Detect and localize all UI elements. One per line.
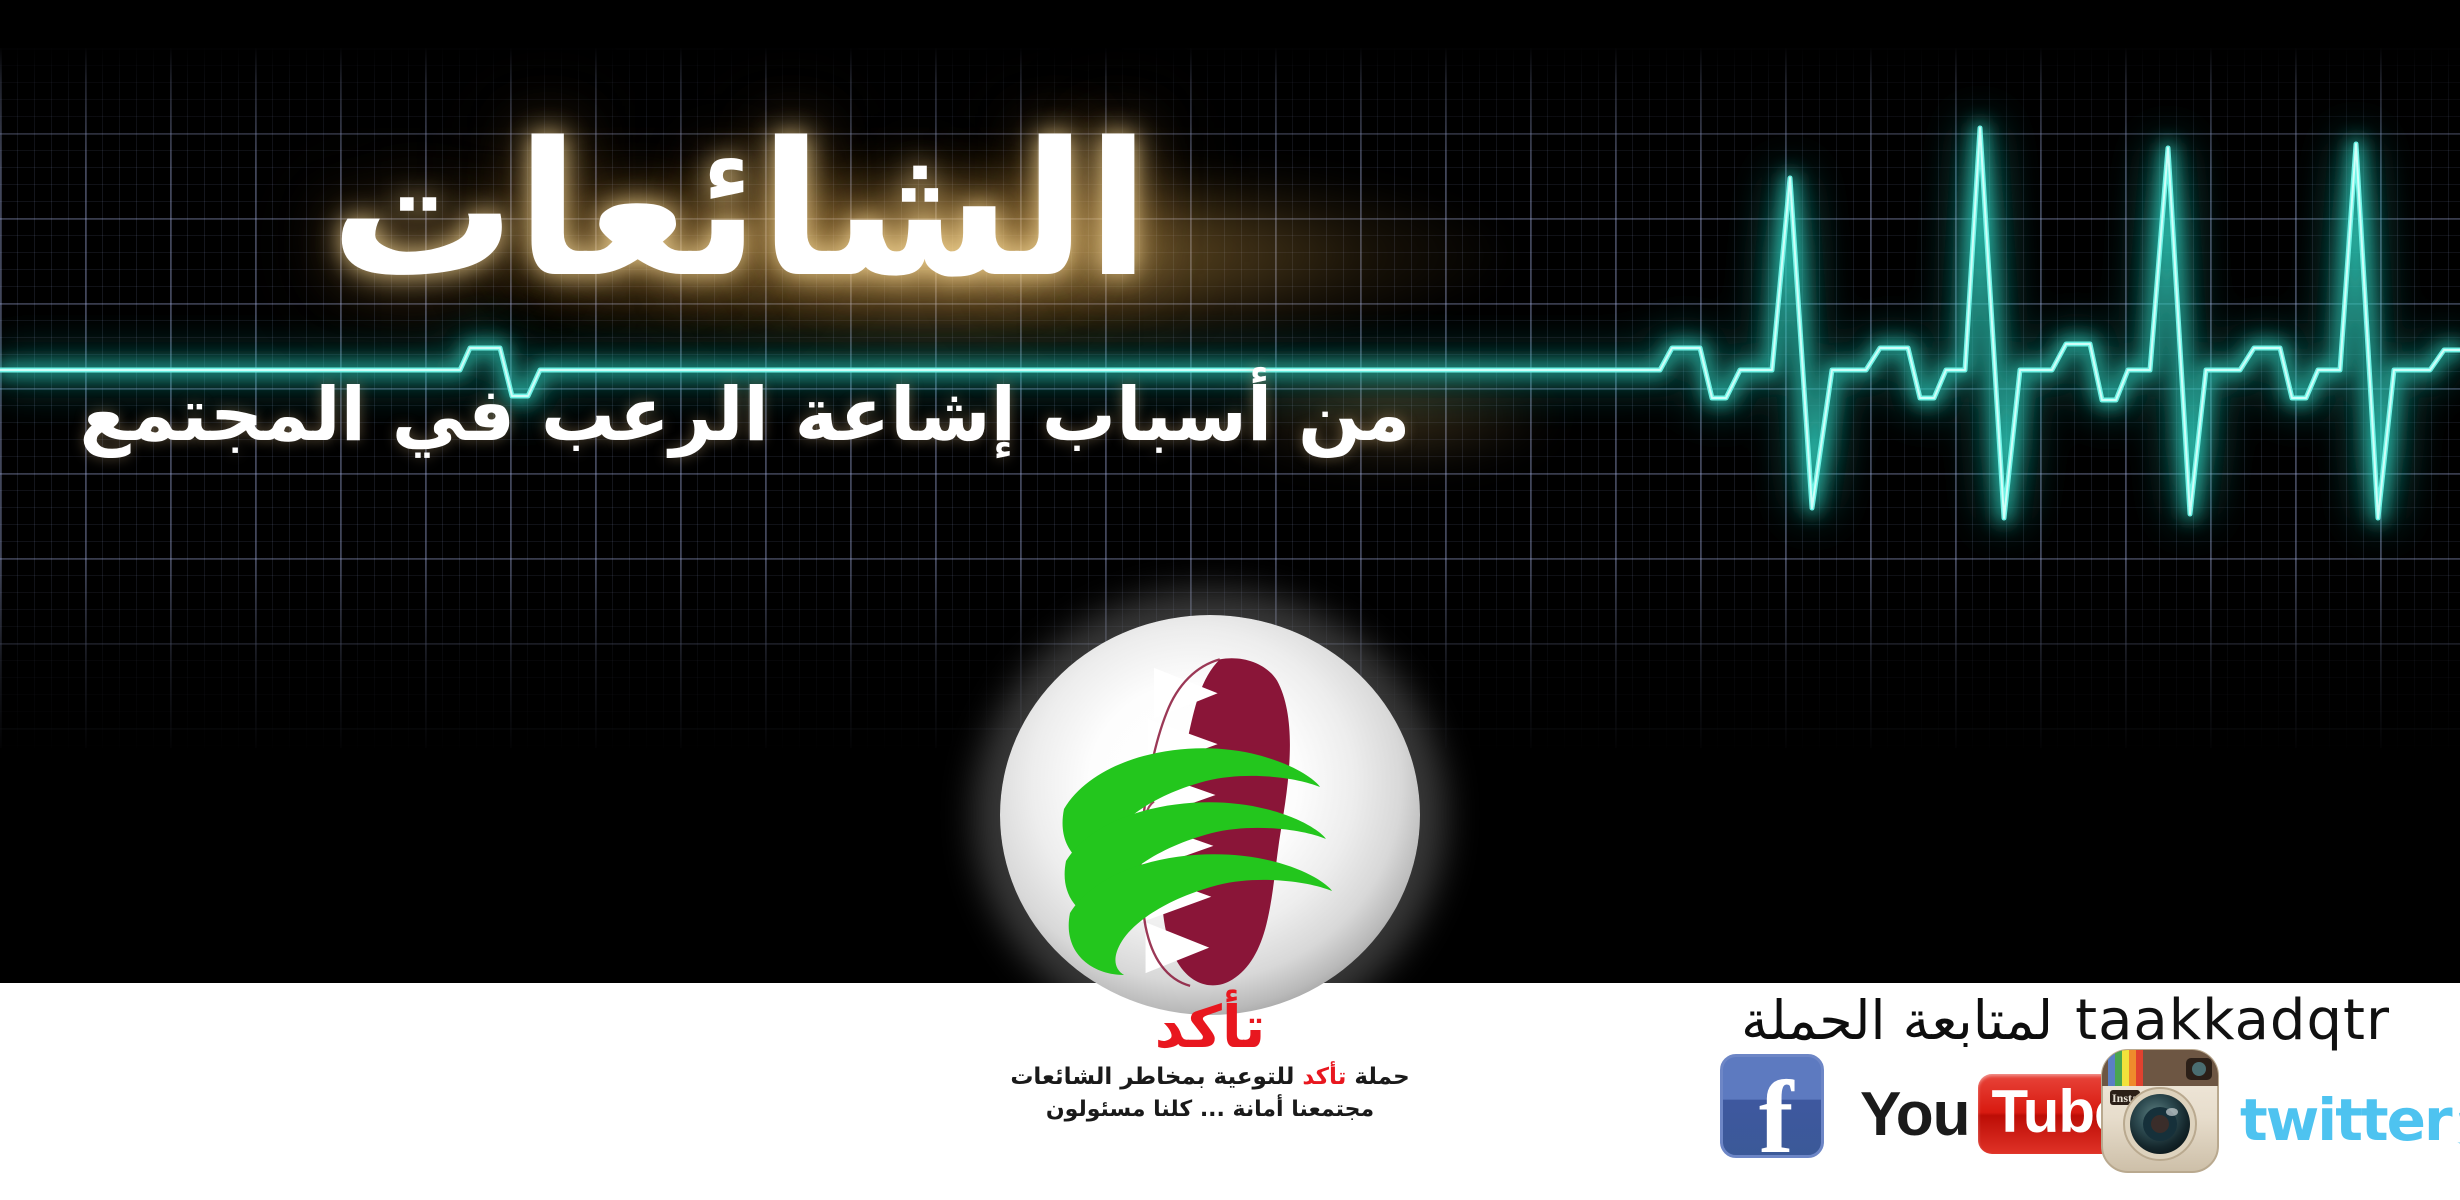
tagline-highlight: تأكد (1302, 1064, 1346, 1090)
logo-tagline-primary: حملة تأكد للتوعية بمخاطر الشائعات (1000, 1064, 1420, 1090)
page-subtitle: من أسباب إشاعة الرعب في المجتمع (0, 378, 1490, 452)
logo-wordmark: تأكد (1000, 1000, 1420, 1055)
campaign-logo (1000, 615, 1420, 1055)
page-title: الشائعات (0, 118, 1480, 303)
qatar-map-icon (1000, 615, 1420, 1015)
tagline-prefix: حملة (1346, 1064, 1409, 1090)
logo-tagline-secondary: مجتمعنا أمانة ... كلنا مسئولون (1000, 1097, 1420, 1122)
facebook-icon[interactable]: f (1720, 1054, 1824, 1158)
twitter-icon[interactable]: twitter (2240, 1086, 2460, 1154)
youtube-you-text: You (1860, 1079, 1970, 1150)
campaign-banner: الشائعات من أسباب إشاعة الرعب في المجتمع (0, 0, 2460, 1200)
logo-lockup-text: تأكد حملة تأكد للتوعية بمخاطر الشائعات م… (1000, 1000, 1420, 1122)
twitter-wordmark: twitter (2240, 1086, 2451, 1154)
tagline-suffix: للتوعية بمخاطر الشائعات (1010, 1064, 1302, 1090)
facebook-f-glyph: f (1759, 1066, 1794, 1170)
twitter-bird-icon (2457, 1089, 2460, 1151)
instagram-icon[interactable]: Insta (2098, 1042, 2222, 1180)
social-links-row: f You Tube (1680, 1040, 2460, 1200)
